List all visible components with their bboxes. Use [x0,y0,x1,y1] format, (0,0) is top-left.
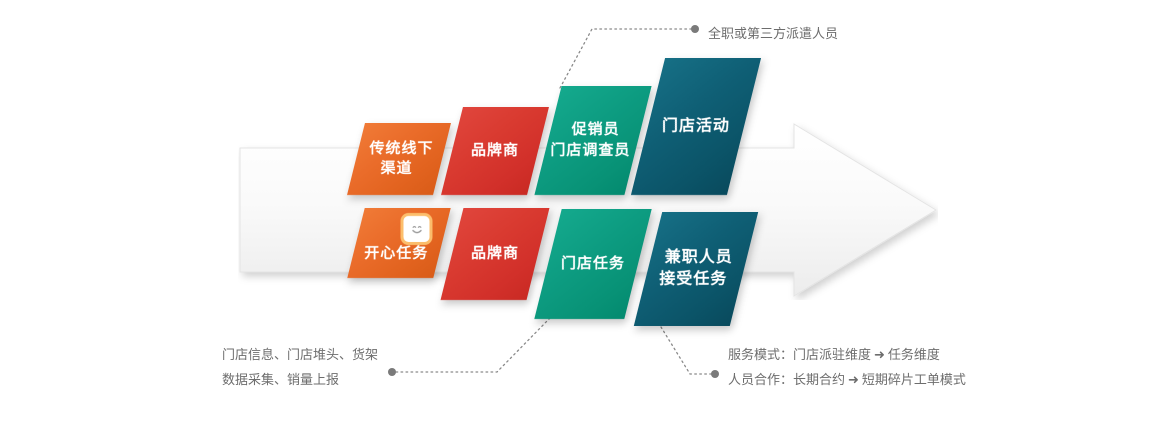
right-arrow-icon: ➜ [845,372,862,387]
stage-label-line: 品牌商 [471,244,519,264]
callout-suffix: 任务维度 [888,347,940,362]
diagram-canvas: 传统线下 渠道 品牌商 促销员 门店调查员 门店活动 开心任务 品牌商 门店任务… [0,0,1150,430]
stage-label-line: 门店调查员 [550,141,630,161]
stage-label-line: 促销员 [572,120,620,140]
stage-label-line: 传统线下 [370,139,434,159]
callout-prefix: 人员合作：长期合约 [728,372,845,387]
right-arrow-icon: ➜ [871,347,888,362]
connector-dot-bottom-right [711,370,719,378]
callout-text-line: 人员合作：长期合约➜短期碎片工单模式 [728,367,966,392]
stage-kaixin-task[interactable]: 开心任务 [347,208,450,278]
smiley-face-icon [403,216,429,242]
callout-text-line: 服务模式：门店派驻维度➜任务维度 [728,342,966,367]
callout-service-model-change: 服务模式：门店派驻维度➜任务维度 人员合作：长期合约➜短期碎片工单模式 [728,342,966,392]
stage-label-line: 门店活动 [662,116,730,138]
callout-staffing-type: 全职或第三方派遣人员 [708,21,838,46]
callout-text-line: 数据采集、销量上报 [222,367,378,392]
connector-bottom-right [661,327,713,374]
callout-text-line: 门店信息、门店堆头、货架 [222,342,378,367]
callout-store-data-collection: 门店信息、门店堆头、货架 数据采集、销量上报 [222,342,378,392]
stage-label-line: 门店任务 [561,254,625,274]
stage-label-line: 兼职人员 [665,247,733,269]
stage-label-line: 渠道 [380,159,412,179]
stage-traditional-offline-channel[interactable]: 传统线下 渠道 [347,123,451,195]
connector-bottom-left [394,318,550,372]
callout-text-line: 全职或第三方派遣人员 [708,21,838,46]
callout-suffix: 短期碎片工单模式 [862,372,966,387]
stage-label-line: 开心任务 [364,244,428,264]
stage-label-line: 接受任务 [659,269,727,291]
callout-prefix: 服务模式：门店派驻维度 [728,347,871,362]
stage-label-line: 品牌商 [471,141,519,161]
connector-dot-bottom-left [388,368,396,376]
connector-dot-top-right [691,25,699,33]
